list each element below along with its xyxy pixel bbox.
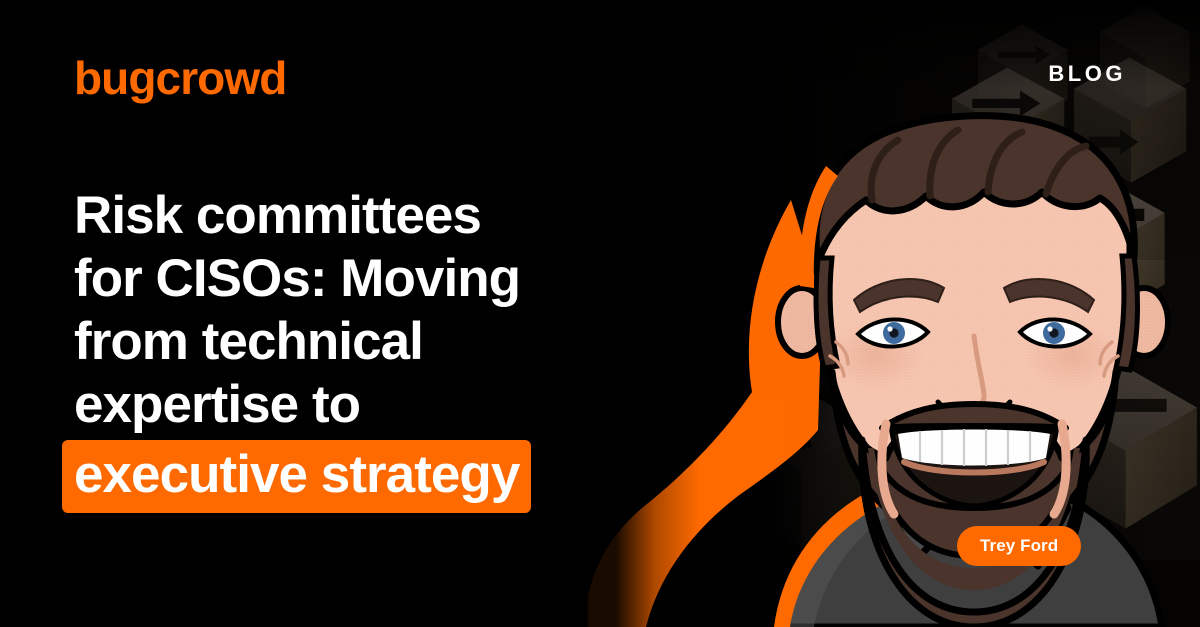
author-name-badge: Trey Ford xyxy=(957,526,1081,566)
headline: Risk committees for CISOs: Moving from t… xyxy=(74,184,694,513)
blog-category-label: BLOG xyxy=(1048,63,1126,85)
headline-line-2: for CISOs: Moving xyxy=(74,247,694,310)
headline-line-1: Risk committees xyxy=(74,184,694,247)
headline-line-3: from technical xyxy=(74,310,694,373)
blog-promo-card: bugcrowd BLOG Risk committees for CISOs:… xyxy=(0,0,1200,627)
bugcrowd-logo[interactable]: bugcrowd xyxy=(74,55,286,101)
headline-highlight: executive strategy xyxy=(62,440,531,513)
headline-line-4: expertise to xyxy=(74,373,694,436)
